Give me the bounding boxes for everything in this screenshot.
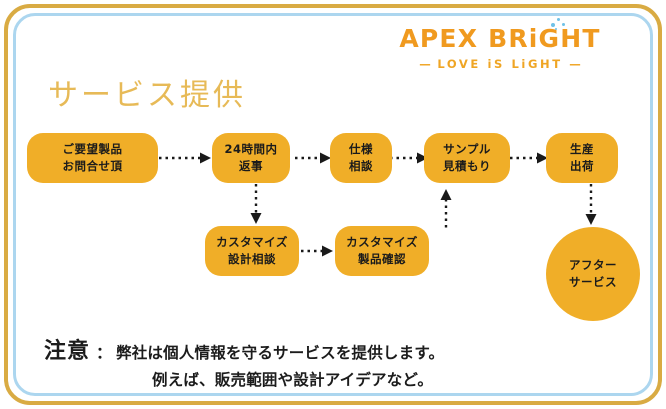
note-text-line2: 例えば、販売範囲や設計アイデアなど。: [152, 368, 444, 390]
tagline-text: LOVE iS LiGHT: [437, 57, 562, 71]
connector-custom-design-to-confirm: [300, 243, 336, 259]
slide-canvas: APEX BRiGHT — LOVE iS LiGHT — サービス提供: [0, 0, 666, 409]
connector-inquiry-to-reply: [157, 150, 215, 166]
flow-node-sample-quote-line2: 見積もり: [443, 158, 491, 175]
brand-wordmark-text: APEX BRiGHT: [399, 24, 600, 53]
note-text-line1: 弊社は個人情報を守るサービスを提供します。: [116, 341, 444, 363]
flow-node-custom-confirm[interactable]: カスタマイズ 製品確認: [335, 226, 429, 276]
note-colon: ：: [90, 339, 116, 363]
page-title: サービス提供: [48, 70, 246, 114]
sparkle-icon: [549, 17, 567, 29]
flow-node-production-line2: 出荷: [570, 158, 594, 175]
flow-node-after-service[interactable]: アフター サービス: [546, 227, 640, 321]
brand-tagline: — LOVE iS LiGHT —: [390, 57, 610, 71]
flow-node-custom-confirm-line2: 製品確認: [358, 251, 406, 268]
flow-node-custom-confirm-line1: カスタマイズ: [346, 234, 418, 251]
connector-reply-to-custom-design: [248, 183, 264, 228]
brand-logo: APEX BRiGHT — LOVE iS LiGHT —: [390, 26, 610, 71]
connector-reply-to-spec: [293, 150, 335, 166]
flow-node-custom-design-line2: 設計相談: [228, 251, 276, 268]
flow-node-sample-quote-line1: サンプル: [443, 141, 491, 158]
flow-node-after-service-line1: アフター: [569, 257, 617, 274]
tagline-dash-right: —: [569, 57, 581, 71]
flow-node-custom-design-line1: カスタマイズ: [216, 234, 288, 251]
connector-production-to-after-service: [583, 183, 599, 229]
flow-node-production-line1: 生産: [570, 141, 594, 158]
flow-node-spec-consult[interactable]: 仕様 相談: [330, 133, 392, 183]
flow-node-inquiry-line1: ご要望製品: [63, 141, 123, 158]
flow-node-sample-quote[interactable]: サンプル 見積もり: [424, 133, 510, 183]
tagline-dash-left: —: [419, 57, 431, 71]
flow-node-after-service-line2: サービス: [569, 274, 617, 291]
flow-node-spec-consult-line1: 仕様: [349, 141, 373, 158]
note-label: 注意: [44, 333, 90, 365]
brand-wordmark: APEX BRiGHT: [399, 26, 600, 51]
connector-custom-confirm-to-sample: [438, 185, 454, 231]
flow-node-inquiry[interactable]: ご要望製品 お問合せ頂: [27, 133, 158, 183]
flow-node-custom-design[interactable]: カスタマイズ 設計相談: [205, 226, 299, 276]
flow-node-reply-24h-line1: 24時間内: [224, 141, 277, 158]
note-block: 注意 ： 弊社は個人情報を守るサービスを提供します。 例えば、販売範囲や設計アイ…: [44, 333, 444, 390]
flow-node-inquiry-line2: お問合せ頂: [63, 158, 123, 175]
flow-node-production[interactable]: 生産 出荷: [546, 133, 618, 183]
flow-node-reply-24h-line2: 返事: [239, 158, 263, 175]
flow-node-spec-consult-line2: 相談: [349, 158, 373, 175]
flow-node-reply-24h[interactable]: 24時間内 返事: [212, 133, 290, 183]
